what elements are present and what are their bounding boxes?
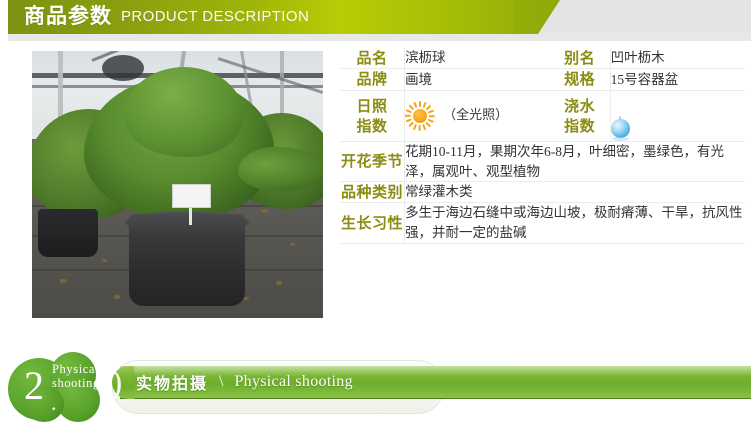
spec-value-specification: 15号容器盆 — [610, 69, 745, 90]
plant-label-card — [172, 184, 211, 208]
spec-label-watering-line2: 指数 — [550, 116, 610, 136]
spec-value-alias: 凹叶枥木 — [610, 48, 745, 69]
spec-label-watering-line1: 浇水 — [550, 96, 610, 116]
badge-label-line1: Physical — [52, 362, 99, 376]
spec-label-variety-category: 品种类别 — [340, 182, 405, 203]
product-photo — [32, 51, 323, 318]
table-row: 品种类别 常绿灌木类 — [340, 182, 745, 203]
spec-value-growth-habit: 多生于海边石缝中或海边山坡，极耐瘠薄、干旱，抗风性强，并耐一定的盐碱 — [405, 203, 745, 243]
greenhouse-shade-patch — [102, 55, 144, 81]
banner-title-cn: 实物拍摄 — [136, 370, 208, 394]
plant-pot — [129, 214, 245, 306]
banner-separator: \ — [219, 373, 223, 391]
table-row: 品名 滨枥球 别名 凹叶枥木 — [340, 48, 745, 69]
banner-text-group: 实物拍摄 \ Physical shooting — [136, 366, 353, 398]
spec-label-sunlight-line2: 指数 — [340, 116, 404, 136]
page-title: 商品参数 — [24, 0, 112, 34]
sunlight-note: （全光照） — [443, 106, 508, 125]
badge-label: Physical shooting — [52, 362, 100, 390]
section-number-dot: . — [51, 390, 57, 416]
table-row: 生长习性 多生于海边石缝中或海边山坡，极耐瘠薄、干旱，抗风性强，并耐一定的盐碱 — [340, 203, 745, 243]
spec-label-flowering-season: 开花季节 — [340, 142, 405, 182]
spec-value-variety-category: 常绿灌木类 — [405, 182, 745, 203]
spec-label-product-name: 品名 — [340, 48, 405, 69]
banner-title-en: Physical shooting — [234, 373, 352, 391]
spec-label-alias: 别名 — [550, 48, 610, 69]
spec-label-growth-habit: 生长习性 — [340, 203, 405, 243]
badge-paren: ) — [111, 366, 122, 400]
section-number-badge: 2 . Physical shooting ) — [6, 352, 126, 424]
background-pot-left — [38, 209, 98, 257]
page-title-english: PRODUCT DESCRIPTION — [121, 0, 309, 34]
spec-value-brand: 画境 — [405, 69, 550, 90]
product-spec-table: 品名 滨枥球 别名 凹叶枥木 品牌 画境 规格 15号容器盆 日照 指数 — [340, 48, 745, 244]
table-row: 品牌 画境 规格 15号容器盆 — [340, 69, 745, 90]
page-header: 商品参数 PRODUCT DESCRIPTION — [0, 0, 751, 45]
spec-label-sunlight-line1: 日照 — [340, 96, 404, 116]
boxwood-foliage-top — [124, 67, 244, 157]
spec-label-specification: 规格 — [550, 69, 610, 90]
table-row: 日照 指数 — [340, 90, 745, 142]
spec-value-product-name: 滨枥球 — [405, 48, 550, 69]
section-number: 2 — [24, 366, 44, 406]
spec-value-flowering-season: 花期10-11月，果期次年6-8月，叶细密，墨绿色，有光泽，属观叶、观型植物 — [405, 142, 745, 182]
boxwood-branch-right — [238, 147, 323, 191]
header-title-group: 商品参数 PRODUCT DESCRIPTION — [24, 0, 309, 34]
spec-value-sunlight-index: （全光照） — [405, 90, 550, 142]
spec-label-sunlight-index: 日照 指数 — [340, 90, 405, 142]
badge-label-line2: shooting — [52, 376, 100, 390]
sun-icon — [405, 101, 435, 131]
table-row: 开花季节 花期10-11月，果期次年6-8月，叶细密，墨绿色，有光泽，属观叶、观… — [340, 142, 745, 182]
section-banner-physical-shooting: 实物拍摄 \ Physical shooting 2 . Physical sh… — [0, 352, 751, 424]
spec-value-watering-index — [610, 90, 745, 142]
header-gray-underline — [8, 33, 751, 41]
spec-label-watering-index: 浇水 指数 — [550, 90, 610, 142]
spec-label-brand: 品牌 — [340, 69, 405, 90]
